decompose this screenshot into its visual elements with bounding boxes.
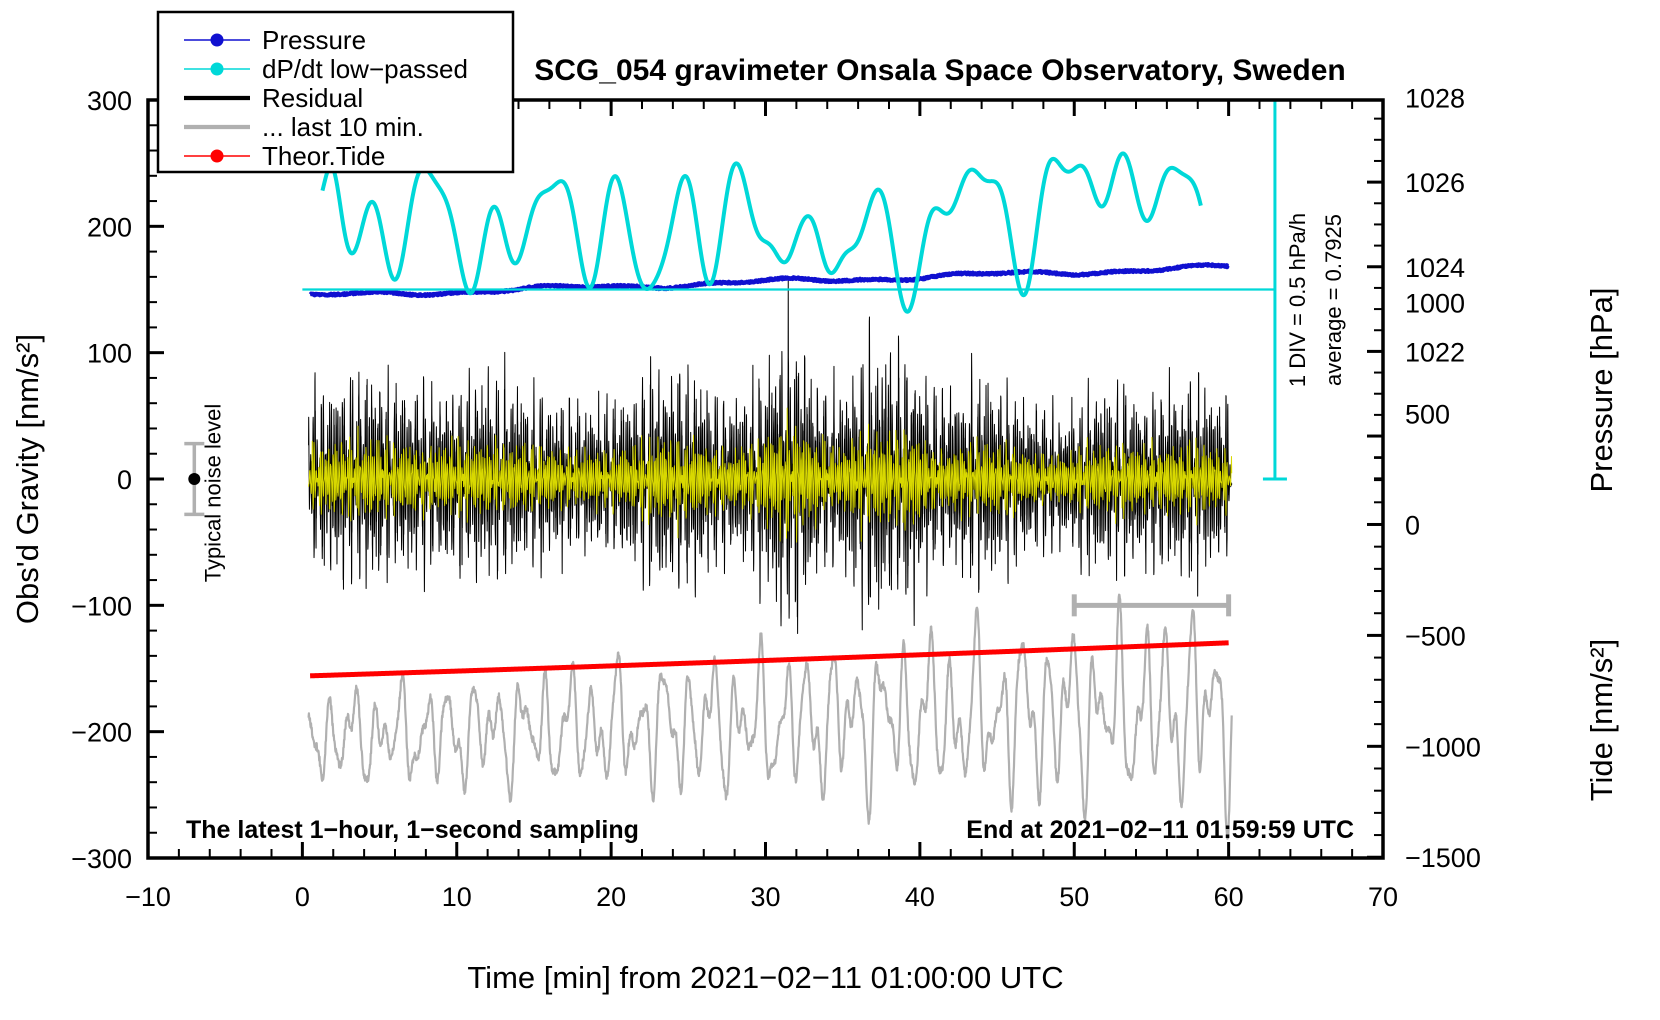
tide-tick-label: 1000 xyxy=(1405,289,1465,319)
xtick-label: 30 xyxy=(750,882,780,912)
legend-label: Residual xyxy=(262,83,363,113)
tide-tick-label: −500 xyxy=(1405,621,1466,651)
tide-tick-label: 500 xyxy=(1405,400,1450,430)
chart-title: SCG_054 gravimeter Onsala Space Observat… xyxy=(534,54,1346,87)
xtick-label: 50 xyxy=(1059,882,1089,912)
legend-marker xyxy=(211,63,224,76)
y-axis-title-pressure: Pressure [hPa] xyxy=(1584,287,1619,492)
pressure-tick-label: 1028 xyxy=(1405,83,1465,113)
xtick-label: 40 xyxy=(905,882,935,912)
bottom-right-annotation: End at 2021−02−11 01:59:59 UTC xyxy=(966,816,1354,844)
legend-label: dP/dt low−passed xyxy=(262,54,468,84)
pressure-tick-label: 1022 xyxy=(1405,337,1465,367)
y-axis-title-tide: Tide [nm/s²] xyxy=(1584,639,1619,802)
xtick-label: 10 xyxy=(442,882,472,912)
tide-tick-label: −1000 xyxy=(1405,732,1481,762)
tide-tick-label: 0 xyxy=(1405,510,1420,540)
xtick-label: 0 xyxy=(295,882,310,912)
noise-level-dot xyxy=(188,473,200,485)
ytick-label: −100 xyxy=(71,591,132,621)
tide-tick-label: −1500 xyxy=(1405,843,1481,873)
y-axis-title-gravity: Obs'd Gravity [nm/s²] xyxy=(10,334,45,624)
bottom-left-annotation: The latest 1−hour, 1−second sampling xyxy=(186,816,639,844)
typical-noise-level-label: Typical noise level xyxy=(200,404,225,583)
pressure-tick-label: 1024 xyxy=(1405,253,1465,283)
average-annotation: average = 0.7925 xyxy=(1321,214,1346,386)
legend-label: Theor.Tide xyxy=(262,141,385,171)
ytick-label: 0 xyxy=(117,465,132,495)
ytick-label: −200 xyxy=(71,718,132,748)
legend-marker xyxy=(211,34,224,47)
chart-page: Typical noise level−10010203040506070Tim… xyxy=(0,0,1660,1020)
xtick-label: 60 xyxy=(1214,882,1244,912)
ytick-label: −300 xyxy=(71,844,132,874)
legend-label: ... last 10 min. xyxy=(262,112,424,142)
xtick-label: 70 xyxy=(1368,882,1398,912)
legend-marker xyxy=(211,150,224,163)
ytick-label: 100 xyxy=(87,339,132,369)
ytick-label: 300 xyxy=(87,86,132,116)
xtick-label: −10 xyxy=(125,882,171,912)
gravimeter-chart: Typical noise level−10010203040506070Tim… xyxy=(0,0,1660,1020)
div-annotation: 1 DIV = 0.5 hPa/h xyxy=(1285,213,1310,387)
ytick-label: 200 xyxy=(87,212,132,242)
xtick-label: 20 xyxy=(596,882,626,912)
pressure-tick-label: 1026 xyxy=(1405,168,1465,198)
legend-label: Pressure xyxy=(262,25,366,55)
x-axis-title: Time [min] from 2021−02−11 01:00:00 UTC xyxy=(467,960,1063,995)
